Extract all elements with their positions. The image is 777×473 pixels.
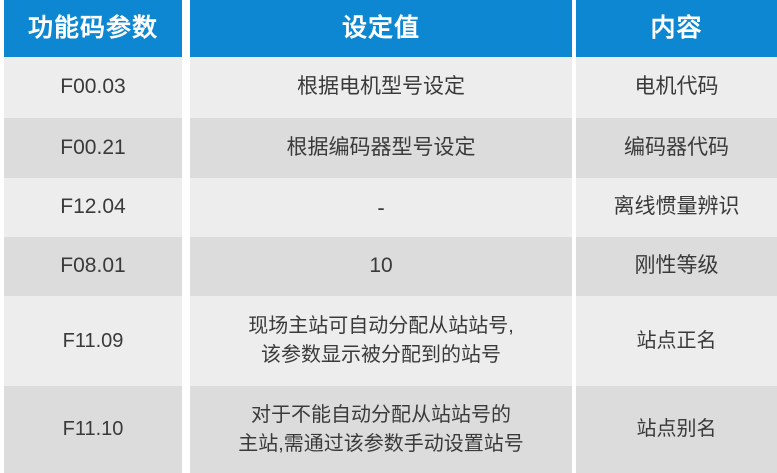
cell-code-text: F11.09	[12, 327, 174, 356]
cell-content-text: 站点别名	[584, 415, 769, 444]
header-label-value: 设定值	[190, 0, 572, 57]
cell-code: F08.01	[0, 237, 186, 296]
cell-code-text: F08.01	[12, 252, 174, 280]
cell-code: F00.21	[0, 118, 186, 178]
table-header-row: 功能码参数 设定值 内容	[0, 0, 777, 57]
cell-value: 10	[186, 237, 576, 296]
cell-value: -	[186, 178, 576, 237]
table-row: F11.10 对于不能自动分配从站站号的 主站,需通过该参数手动设置站号 站点别…	[0, 386, 777, 473]
cell-content: 刚性等级	[576, 237, 777, 296]
parameter-table: 功能码参数 设定值 内容 F00.03 根据电机型号设定 电机代码 F00.21…	[0, 0, 777, 473]
cell-value: 对于不能自动分配从站站号的 主站,需通过该参数手动设置站号	[186, 386, 576, 473]
cell-code-text: F00.03	[12, 73, 174, 101]
cell-content: 站点别名	[576, 386, 777, 473]
cell-code: F12.04	[0, 178, 186, 237]
cell-value-text: -	[198, 193, 564, 223]
cell-content-text: 站点正名	[584, 327, 769, 356]
header-cell-code: 功能码参数	[0, 0, 186, 57]
cell-content-text: 电机代码	[584, 73, 769, 101]
cell-content-text: 编码器代码	[584, 134, 769, 162]
cell-value-text: 对于不能自动分配从站站号的 主站,需通过该参数手动设置站号	[198, 401, 564, 459]
cell-code-text: F12.04	[12, 193, 174, 221]
cell-code-text: F11.10	[12, 415, 174, 444]
cell-content-text: 离线惯量辨识	[584, 193, 769, 221]
table-row: F00.03 根据电机型号设定 电机代码	[0, 57, 777, 118]
table-row: F12.04 - 离线惯量辨识	[0, 178, 777, 237]
cell-value-text: 根据编码器型号设定	[198, 134, 564, 162]
cell-value: 根据电机型号设定	[186, 57, 576, 118]
header-label-content: 内容	[576, 0, 777, 57]
table-row: F11.09 现场主站可自动分配从站站号, 该参数显示被分配到的站号 站点正名	[0, 296, 777, 386]
header-label-code: 功能码参数	[4, 0, 182, 57]
cell-value-text: 根据电机型号设定	[198, 73, 564, 101]
table-row: F08.01 10 刚性等级	[0, 237, 777, 296]
table-row: F00.21 根据编码器型号设定 编码器代码	[0, 118, 777, 178]
header-cell-content: 内容	[576, 0, 777, 57]
cell-code: F11.09	[0, 296, 186, 386]
cell-value: 根据编码器型号设定	[186, 118, 576, 178]
cell-code-text: F00.21	[12, 134, 174, 162]
cell-content: 编码器代码	[576, 118, 777, 178]
cell-code: F00.03	[0, 57, 186, 118]
cell-code: F11.10	[0, 386, 186, 473]
cell-content: 电机代码	[576, 57, 777, 118]
cell-value-text: 10	[198, 252, 564, 280]
cell-content: 站点正名	[576, 296, 777, 386]
cell-content-text: 刚性等级	[584, 252, 769, 280]
cell-content: 离线惯量辨识	[576, 178, 777, 237]
cell-value: 现场主站可自动分配从站站号, 该参数显示被分配到的站号	[186, 296, 576, 386]
header-cell-value: 设定值	[186, 0, 576, 57]
cell-value-text: 现场主站可自动分配从站站号, 该参数显示被分配到的站号	[198, 312, 564, 370]
